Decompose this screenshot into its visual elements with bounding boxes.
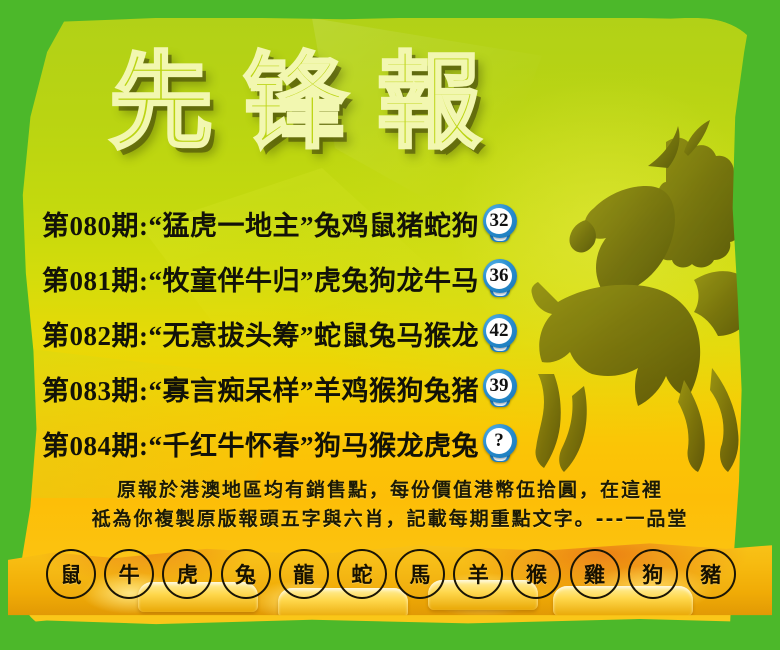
phrase-label: “猛虎一地主”: [149, 204, 315, 243]
page-title: 先锋報: [0, 50, 620, 154]
phrase-label: “寡言痴呆样”: [149, 369, 315, 408]
phrase-label: “牧童伴牛归”: [149, 259, 315, 298]
zodiac-label: 羊鸡猴狗兔猪: [314, 369, 479, 408]
zodiac-tiger[interactable]: 虎: [162, 549, 212, 599]
lottery-ball[interactable]: 39: [482, 369, 518, 409]
poster-canvas: 先锋報 第080期: “猛虎一地主” 兔鸡鼠猪蛇狗 32 第081期: “牧童伴…: [0, 0, 780, 650]
ball-number: ?: [486, 428, 512, 454]
lottery-ball[interactable]: 32: [482, 204, 518, 244]
prediction-row[interactable]: 第081期: “牧童伴牛归” 虎兔狗龙牛马 36: [42, 251, 562, 306]
lottery-ball[interactable]: ?: [482, 424, 518, 464]
issue-label: 第084期:: [42, 424, 149, 463]
prediction-row[interactable]: 第083期: “寡言痴呆样” 羊鸡猴狗兔猪 39: [42, 361, 562, 416]
footer-notes: 原報於港澳地區均有銷售點，每份價值港幣伍拾圓，在這裡 祗為你複製原版報頭五字與六…: [0, 476, 780, 534]
lottery-ball[interactable]: 36: [482, 259, 518, 299]
issue-label: 第081期:: [42, 259, 149, 298]
note-line: 祗為你複製原版報頭五字與六肖，記載每期重點文字。---一品堂: [0, 505, 780, 534]
zodiac-pig[interactable]: 豬: [686, 549, 736, 599]
issue-label: 第083期:: [42, 369, 149, 408]
zodiac-horse[interactable]: 馬: [395, 549, 445, 599]
phrase-label: “千红牛怀春”: [149, 424, 315, 463]
zodiac-label: 兔鸡鼠猪蛇狗: [314, 204, 479, 243]
issue-label: 第082期:: [42, 314, 149, 353]
zodiac-label: 狗马猴龙虎兔: [314, 424, 479, 463]
ball-number: 42: [486, 318, 512, 344]
issue-label: 第080期:: [42, 204, 149, 243]
prediction-row[interactable]: 第084期: “千红牛怀春” 狗马猴龙虎兔 ?: [42, 416, 562, 471]
zodiac-ox[interactable]: 牛: [104, 549, 154, 599]
zodiac-dog[interactable]: 狗: [628, 549, 678, 599]
prediction-row[interactable]: 第080期: “猛虎一地主” 兔鸡鼠猪蛇狗 32: [42, 196, 562, 251]
zodiac-label: 蛇鼠兔马猴龙: [314, 314, 479, 353]
prediction-row[interactable]: 第082期: “无意拔头筹” 蛇鼠兔马猴龙 42: [42, 306, 562, 361]
zodiac-dragon[interactable]: 龍: [279, 549, 329, 599]
zodiac-row: 鼠 牛 虎 兔 龍 蛇 馬 羊 猴 雞 狗 豬: [46, 550, 736, 598]
zodiac-label: 虎兔狗龙牛马: [314, 259, 479, 298]
zodiac-rooster[interactable]: 雞: [570, 549, 620, 599]
note-line: 原報於港澳地區均有銷售點，每份價值港幣伍拾圓，在這裡: [0, 476, 780, 505]
ball-number: 36: [486, 263, 512, 289]
zodiac-rabbit[interactable]: 兔: [221, 549, 271, 599]
zodiac-snake[interactable]: 蛇: [337, 549, 387, 599]
phrase-label: “无意拔头筹”: [149, 314, 315, 353]
ball-number: 32: [486, 208, 512, 234]
ball-number: 39: [486, 373, 512, 399]
lottery-ball[interactable]: 42: [482, 314, 518, 354]
zodiac-goat[interactable]: 羊: [453, 549, 503, 599]
zodiac-monkey[interactable]: 猴: [511, 549, 561, 599]
zodiac-rat[interactable]: 鼠: [46, 549, 96, 599]
prediction-list: 第080期: “猛虎一地主” 兔鸡鼠猪蛇狗 32 第081期: “牧童伴牛归” …: [42, 196, 562, 471]
